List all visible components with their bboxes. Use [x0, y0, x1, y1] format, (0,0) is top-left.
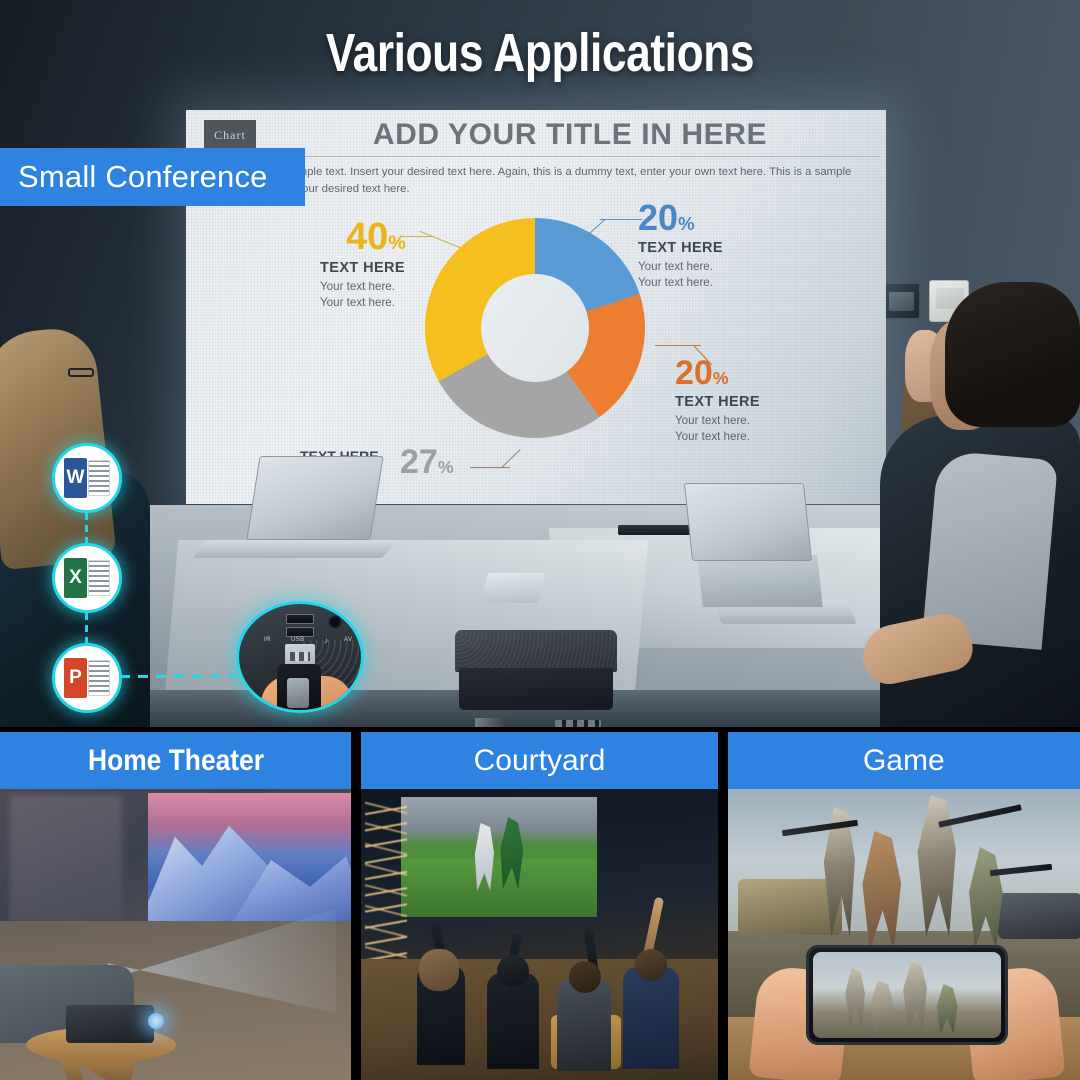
callout-percent-value: 20	[638, 197, 678, 238]
callout-percent-orange: 20%	[675, 356, 855, 390]
callout-percent-value: 40	[346, 216, 388, 258]
callout-sub-line2: Your text here.	[675, 429, 855, 445]
chart-callout-orange: 20% TEXT HERE Your text here. Your text …	[675, 356, 855, 444]
laptop-left-screen	[246, 456, 383, 540]
percent-sign: %	[438, 457, 454, 477]
projected-soccer-match	[401, 797, 597, 917]
callout-percent-value: 27	[400, 443, 438, 481]
port-label-av: AV	[344, 637, 352, 643]
phone-game-character-1	[843, 968, 869, 1028]
excel-icon: X	[64, 558, 110, 598]
callout-sub-line1: Your text here.	[675, 413, 855, 429]
panel-image-courtyard	[361, 789, 717, 1080]
leader-line-blue	[600, 219, 642, 220]
phone-game-character-2	[869, 980, 897, 1034]
callout-heading-yellow: TEXT HERE	[320, 260, 450, 276]
panel-label-text: Home Theater	[88, 744, 264, 778]
callout-sub-orange: Your text here. Your text here.	[675, 413, 855, 444]
port-label-ir: IR	[264, 637, 271, 643]
callout-percent-gray: 27%	[400, 445, 454, 479]
person-man-hair	[945, 282, 1080, 427]
projected-mountain-image	[148, 793, 351, 927]
smartphone[interactable]	[806, 945, 1008, 1045]
badge-connector-3	[120, 675, 238, 678]
banner-small-conference: Small Conference	[0, 148, 305, 206]
percent-sign: %	[713, 368, 729, 388]
headphone-icon: ♪	[324, 636, 328, 645]
game-vehicle-1	[738, 879, 842, 935]
projector-fabric-top	[455, 630, 617, 672]
panel-home-theater[interactable]: Home Theater	[0, 732, 351, 1080]
callout-sub-yellow: Your text here. Your text here.	[320, 279, 450, 310]
excel-badge[interactable]: X	[52, 543, 122, 613]
laptop-right-screen	[684, 483, 812, 561]
living-room-scene	[0, 789, 351, 1080]
panel-image-game	[728, 789, 1080, 1080]
donut-chart	[425, 218, 645, 438]
laptop-right-body	[697, 555, 822, 607]
raised-arm-4	[643, 897, 664, 958]
donut-center-hole	[481, 274, 589, 382]
panel-label-text: Courtyard	[474, 744, 606, 778]
laptop-left-base	[193, 540, 397, 558]
spectator-2	[487, 973, 539, 1069]
chart-callout-blue: 20% TEXT HERE Your text here. Your text …	[638, 200, 818, 290]
percent-sign: %	[388, 232, 406, 254]
projector-logo	[475, 718, 505, 727]
callout-percent-yellow: 40%	[346, 218, 450, 256]
callout-percent-value: 20	[675, 354, 713, 392]
callout-sub-line2: Your text here.	[638, 275, 818, 291]
word-icon: W	[64, 458, 110, 498]
percent-sign: %	[678, 213, 695, 234]
word-icon-page	[88, 460, 110, 496]
spectator-1-head	[419, 949, 459, 991]
slide-title: ADD YOUR TITLE IN HERE	[260, 118, 880, 152]
powerpoint-badge[interactable]: P	[52, 643, 122, 713]
ports-closeup-circle: IR USB ♪ AV	[236, 601, 364, 713]
projector-device	[455, 630, 617, 708]
callout-sub-line1: Your text here.	[638, 259, 818, 275]
panel-label-home-theater: Home Theater	[0, 732, 351, 789]
panel-label-text: Game	[863, 744, 945, 778]
callout-heading-orange: TEXT HERE	[675, 394, 855, 410]
game-vehicle-2	[998, 893, 1080, 939]
excel-icon-grid	[88, 560, 110, 596]
callout-sub-blue: Your text here. Your text here.	[638, 259, 818, 290]
page-title: Various Applications	[97, 22, 983, 84]
projector-device-home	[66, 1005, 154, 1043]
panel-label-game: Game	[728, 732, 1080, 789]
slide-chart-tag: Chart	[204, 120, 256, 150]
powerpoint-icon: P	[64, 658, 110, 698]
keyboard	[618, 525, 690, 535]
word-icon-letter: W	[64, 458, 87, 498]
outdoor-night-scene	[361, 789, 717, 1080]
badge-connector-1	[85, 513, 88, 543]
slide-body-text: This is a sample text. Insert your desir…	[240, 164, 870, 199]
banner-small-conference-label: Small Conference	[0, 159, 268, 195]
excel-icon-letter: X	[64, 558, 87, 598]
phone-game-character-4	[935, 984, 961, 1034]
wall-socket-dark-icon	[881, 283, 920, 319]
powerpoint-icon-letter: P	[64, 658, 87, 698]
headphone-jack-icon	[328, 615, 342, 629]
phone-screen-game	[813, 952, 1001, 1038]
projector-vent-leds	[555, 720, 601, 727]
usb-drive-body	[277, 664, 321, 713]
panel-label-courtyard: Courtyard	[361, 732, 717, 789]
projector-body	[459, 668, 613, 710]
powerpoint-icon-slide	[88, 660, 110, 696]
soccer-pitch	[401, 859, 597, 917]
callout-percent-blue: 20%	[638, 200, 818, 236]
desk-device	[480, 573, 545, 603]
panel-game[interactable]: Game	[728, 732, 1080, 1080]
wall-art	[10, 795, 122, 923]
callout-sub-line2: Your text here.	[320, 295, 450, 311]
callout-heading-blue: TEXT HERE	[638, 240, 818, 256]
word-badge[interactable]: W	[52, 443, 122, 513]
phone-game-character-3	[901, 962, 931, 1030]
eyeglasses-icon	[68, 368, 94, 377]
application-panels: Home Theater Courtyard	[0, 727, 1080, 1080]
conference-room-scene: Chart ADD YOUR TITLE IN HERE This is a s…	[0, 0, 1080, 727]
badge-connector-2	[85, 613, 88, 643]
port-label-usb: USB	[291, 637, 305, 643]
callout-sub-line1: Your text here.	[320, 279, 450, 295]
panel-courtyard[interactable]: Courtyard	[361, 732, 717, 1080]
game-projection-scene	[728, 789, 1080, 1080]
usb-port-2	[286, 627, 314, 637]
chart-callout-yellow: 40% TEXT HERE Your text here. Your text …	[300, 218, 450, 310]
usb-port-1	[286, 614, 314, 624]
slide-divider	[205, 156, 880, 157]
spectator-4	[623, 967, 679, 1069]
panel-image-home-theater	[0, 789, 351, 1080]
